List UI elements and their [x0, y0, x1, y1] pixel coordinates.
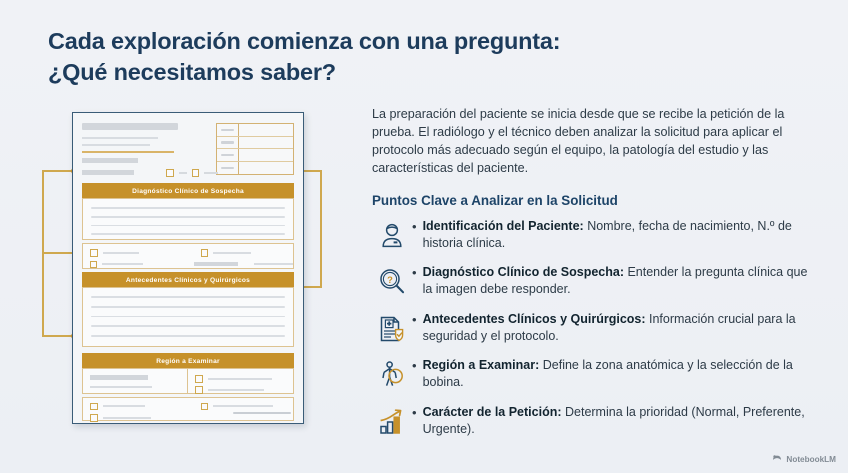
patient-person-icon [372, 217, 412, 255]
svg-text:?: ? [387, 274, 393, 285]
bullet-marker: • [412, 311, 417, 329]
list-item-text: Diagnóstico Clínico de Sospecha: Entende… [423, 263, 820, 298]
page-title: Cada exploración comienza con una pregun… [48, 26, 688, 87]
bullet-marker: • [412, 404, 417, 422]
page-title-line1: Cada exploración comienza con una pregun… [48, 28, 560, 54]
checkbox-icon [166, 169, 174, 177]
content-column: La preparación del paciente se inicia de… [372, 106, 820, 449]
body-region-icon [372, 356, 412, 394]
page-title-line2: ¿Qué necesitamos saber? [48, 57, 688, 88]
section-subheading: Puntos Clave a Analizar en la Solicitud [372, 193, 820, 208]
form-sheet: Diagnóstico Clínico de Sospecha [72, 112, 304, 424]
checkbox-icon [201, 403, 209, 411]
list-item-term: Diagnóstico Clínico de Sospecha: [423, 265, 624, 279]
list-item-term: Antecedentes Clínicos y Quirúrgicos: [423, 312, 646, 326]
checkbox-icon [90, 403, 98, 411]
list-item: • Antecedentes Clínicos y Quirúrgicos: I… [372, 310, 820, 348]
form-panel-region-top [82, 368, 294, 394]
form-header-lines [82, 123, 178, 163]
checkbox-icon [90, 261, 97, 269]
request-form-illustration: Diagnóstico Clínico de Sospecha [36, 104, 346, 434]
form-header-table [216, 123, 294, 175]
form-panel-antecedentes [82, 287, 294, 347]
list-item: • Región a Examinar: Define la zona anat… [372, 356, 820, 394]
key-points-list: • Identificación del Paciente: Nombre, f… [372, 217, 820, 441]
list-item-term: Región a Examinar: [423, 358, 540, 372]
bullet-marker: • [412, 264, 417, 282]
bullet-marker: • [412, 357, 417, 375]
checkbox-icon [90, 414, 98, 422]
list-item-term: Carácter de la Petición: [423, 405, 562, 419]
form-signature-line [233, 412, 291, 414]
intro-paragraph: La preparación del paciente se inicia de… [372, 106, 820, 178]
list-item: • Carácter de la Petición: Determina la … [372, 403, 820, 441]
form-band-diagnostico: Diagnóstico Clínico de Sospecha [82, 183, 294, 199]
notebooklm-label: NotebookLM [786, 455, 836, 464]
medical-record-shield-icon [372, 310, 412, 348]
notebooklm-watermark: NotebookLM [772, 453, 836, 465]
form-panel-region-checks [82, 397, 294, 421]
slide-canvas: Cada exploración comienza con una pregun… [0, 0, 848, 473]
form-panel-diagnostico-checks [82, 243, 294, 269]
checkbox-icon [192, 169, 200, 177]
priority-chart-icon [372, 403, 412, 441]
checkbox-icon [195, 375, 203, 383]
form-band-antecedentes: Antecedentes Clínicos y Quirúrgicos [82, 272, 294, 288]
list-item: ? • Diagnóstico Clínico de Sospecha: Ent… [372, 263, 820, 301]
form-panel-diagnostico [82, 198, 294, 240]
magnifier-question-icon: ? [372, 263, 412, 301]
list-item: • Identificación del Paciente: Nombre, f… [372, 217, 820, 255]
checkbox-icon [195, 386, 203, 394]
list-item-term: Identificación del Paciente: [423, 219, 584, 233]
list-item-text: Antecedentes Clínicos y Quirúrgicos: Inf… [423, 310, 820, 345]
form-band-region: Región a Examinar [82, 353, 294, 369]
list-item-text: Región a Examinar: Define la zona anatóm… [423, 356, 820, 391]
form-header-checkbox-row [82, 169, 218, 177]
notebooklm-logo-icon [772, 453, 782, 465]
list-item-text: Identificación del Paciente: Nombre, fec… [423, 217, 820, 252]
bullet-marker: • [412, 218, 417, 236]
checkbox-icon [90, 249, 98, 257]
checkbox-icon [201, 249, 209, 257]
list-item-text: Carácter de la Petición: Determina la pr… [423, 403, 820, 438]
